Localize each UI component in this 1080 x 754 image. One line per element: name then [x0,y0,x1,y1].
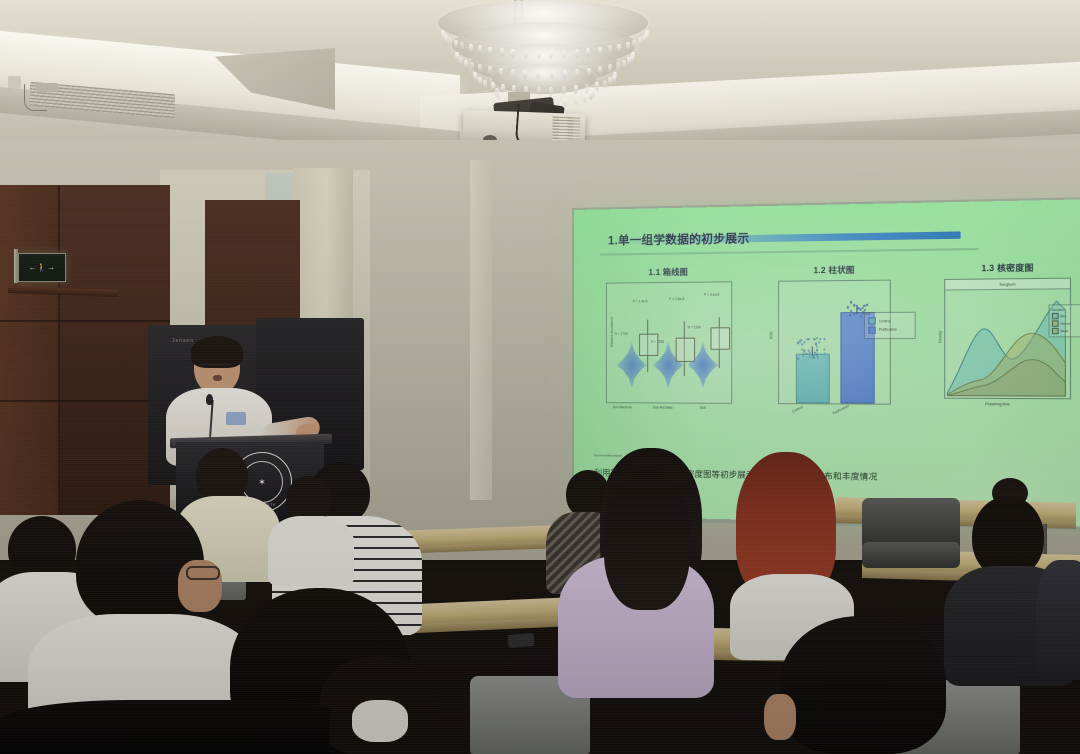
chandelier-crystal [524,50,528,59]
chandelier-crystal [626,42,630,51]
audience-body [268,516,354,586]
chandelier-crystal [464,60,468,69]
chandelier-crystal [598,47,602,56]
seal-emblem-icon: ✶ [258,478,266,487]
chandelier-crystal [562,50,566,59]
audience-head [780,616,946,754]
chandelier-crystal [501,84,505,93]
chandelier-crystal [598,66,602,75]
chandelier-crystal [454,40,458,49]
chandelier-crystal [616,62,620,71]
projector-vent-grille [552,117,581,143]
chandelier-crystal [500,48,504,57]
wall-door-frame [470,160,492,500]
presenter-shirt-graphic [226,412,246,425]
wood-panel-seam [0,320,170,322]
chandelier-crystal [563,98,567,107]
foreground-shadow-left [0,700,330,754]
chandelier-crystal [563,70,567,79]
microphone-icon [206,394,213,405]
speaker-brand-label: Jensen [172,338,194,344]
chandelier-crystal [642,35,646,44]
chandelier-crystal [603,80,607,89]
chandelier-crystal [595,82,599,91]
chandelier-crystal [469,44,473,53]
ceiling-wire [24,84,47,111]
audience-ear [764,694,796,740]
presenter-mouth [213,375,222,381]
glasses-icon [186,566,220,580]
phone-on-desk[interactable] [508,633,535,648]
chandelier-crystal [478,77,482,86]
lecture-hall-photo: ←🚶→ 1.单一组学数据的初步展示 1.1 箱线图 Relative abund… [0,0,1080,754]
chandelier-crystal [495,88,499,97]
chandelier-crystal [575,49,579,58]
wood-panel-seam [0,400,170,402]
chandelier-crystal [638,37,642,46]
chandelier-crystal [575,69,579,78]
chandelier-crystal [587,68,591,77]
wood-door [0,185,60,515]
chandelier-crystal [441,30,445,39]
exit-sign: ←🚶→ [18,253,66,282]
chandelier-crystal [537,50,541,59]
audience-body [1036,560,1080,680]
chandelier-tier-4 [492,64,596,94]
chandelier-crystal [608,64,612,73]
hair-front [604,470,690,610]
chandelier-crystal [473,72,477,81]
chandelier-crystal [550,70,554,79]
chandelier-crystal [499,68,503,77]
chair-seat-right[interactable] [862,542,960,568]
chandelier-crystal [537,87,541,96]
chandelier-crystal [455,52,459,61]
ceiling-sensor-icon [8,76,21,88]
chandelier-crystal [612,75,616,84]
face-mask-icon [352,700,408,742]
exit-icon: ←🚶→ [29,264,56,272]
chandelier-crystal [511,69,515,78]
presenter-glasses-icon [199,364,233,371]
